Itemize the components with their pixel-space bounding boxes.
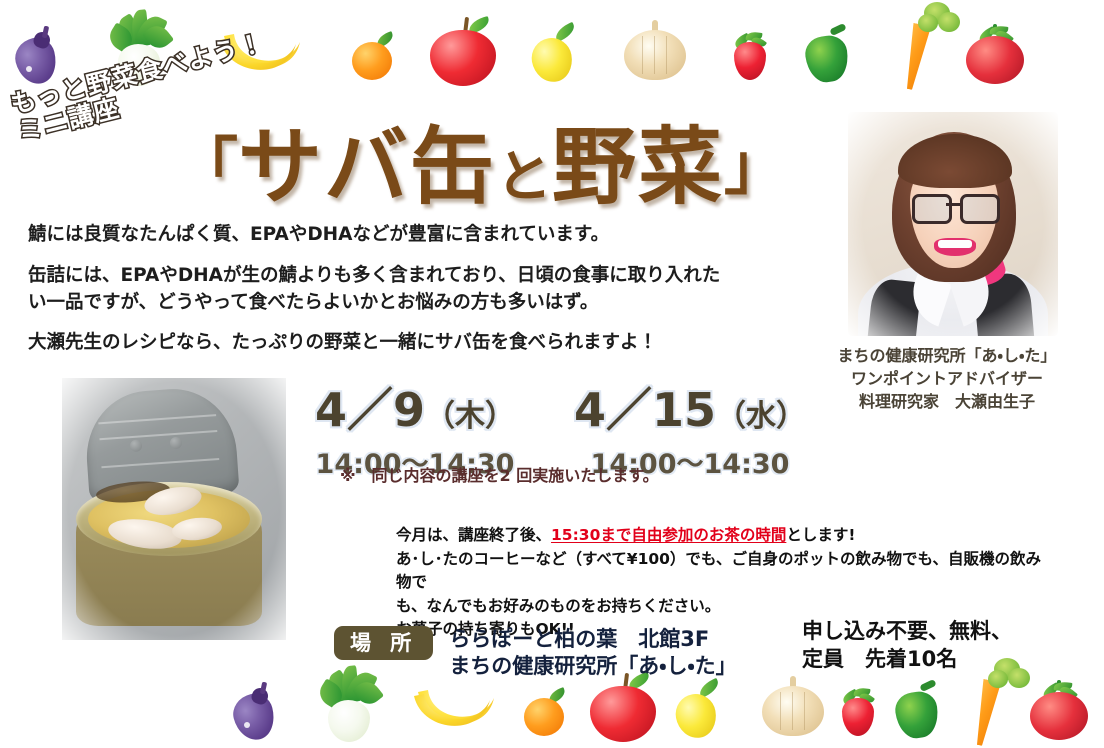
session-date-2-main: 4／15（水） <box>550 374 830 440</box>
session-date-2-number: 4／15 <box>574 383 716 437</box>
tea-line1-after: とします! <box>786 526 855 544</box>
onion-icon <box>620 16 692 84</box>
instructor-caption-line-3: 料理研究家 大瀬由生子 <box>790 390 1104 413</box>
green-pepper-icon <box>800 22 858 84</box>
tea-time-line-3: も、なんでもお好みのものをお持ちください。 <box>396 595 1056 619</box>
carrot-icon <box>888 0 966 92</box>
mackerel-can-photo <box>62 378 286 640</box>
tea-time-line-2: あ･し･たのコーヒーなど（すべて¥100）でも、ご自身のポットの飲み物でも、自販… <box>396 548 1056 595</box>
portrait-glasses <box>912 194 998 218</box>
lemon-icon <box>672 680 724 740</box>
strawberry-icon <box>836 682 882 738</box>
venue-address-line-2: まちの健康研究所「あ・し・た」 <box>449 653 736 680</box>
title-part-2: と <box>496 145 552 210</box>
tea-time-line-1: 今月は、講座終了後、15:30まで自由参加のお茶の時間とします! <box>396 524 1056 548</box>
title-close-bracket: 」 <box>724 130 786 203</box>
session-date-2-dayofweek: （水） <box>716 399 806 434</box>
banana-icon <box>412 678 498 738</box>
venue-address: ららぽーと柏の葉 北館3F まちの健康研究所「あ・し・た」 <box>449 626 736 681</box>
session-date-1-dayofweek: （木） <box>425 399 515 434</box>
apple-icon <box>428 16 500 86</box>
session-date-1-number: 4／9 <box>315 383 425 437</box>
venue-badge: 場 所 <box>334 626 433 660</box>
sessions-note: ※ 同じ内容の講座を2 回実施いたします。 <box>340 462 659 486</box>
venue-address-line-1: ららぽーと柏の葉 北館3F <box>449 626 736 653</box>
body-paragraph-3: 大瀬先生のレシピなら、たっぷりの野菜と一緒にサバ缶を食べられますよ！ <box>28 330 728 357</box>
eggplant-icon <box>228 680 280 742</box>
registration-info: 申し込み不要、無料、 定員 先着10名 <box>802 618 1012 673</box>
orange-icon <box>520 686 570 738</box>
body-copy: 鯖には良質なたんぱく質、EPAやDHAなどが豊富に含まれています。 缶詰には、E… <box>28 222 728 371</box>
title-open-bracket: 「 <box>176 130 238 203</box>
page-title: 「サバ缶と野菜」 <box>176 100 786 221</box>
session-date-1-main: 4／9（木） <box>280 374 550 440</box>
tea-line1-before: 今月は、講座終了後、 <box>396 526 551 544</box>
instructor-caption-line-2: ワンポイントアドバイザー <box>790 367 1104 390</box>
body-paragraph-2: 缶詰には、EPAやDHAが生の鯖よりも多く含まれており、日頃の食事に取り入れたい… <box>28 263 728 317</box>
poster-root: もっと野菜食べよう！ ミニ講座 「サバ缶と野菜」 鯖には良質なたんぱく質、EPA… <box>0 0 1104 748</box>
onion-icon <box>758 672 830 740</box>
portrait-teeth <box>938 240 972 248</box>
orange-icon <box>348 30 398 82</box>
body-paragraph-1: 鯖には良質なたんぱく質、EPAやDHAなどが豊富に含まれています。 <box>28 222 728 249</box>
lemon-icon <box>528 24 580 84</box>
tomato-icon <box>1026 678 1094 740</box>
tomato-icon <box>962 22 1030 84</box>
instructor-portrait-photo <box>848 112 1058 336</box>
venue-section: 場 所 ららぽーと柏の葉 北館3F まちの健康研究所「あ・し・た」 <box>334 626 737 681</box>
apple-icon <box>588 672 660 742</box>
title-part-3: 野菜 <box>552 118 724 216</box>
registration-line-2: 定員 先着10名 <box>802 646 1012 674</box>
green-pepper-icon <box>890 678 948 740</box>
tea-line1-highlight: 15:30まで自由参加のお茶の時間 <box>551 526 786 544</box>
instructor-caption-line-1: まちの健康研究所「あ・し・た」 <box>790 344 1104 367</box>
strawberry-icon <box>728 26 774 82</box>
registration-line-1: 申し込み不要、無料、 <box>802 618 1012 646</box>
eggplant-icon <box>10 24 62 86</box>
instructor-caption: まちの健康研究所「あ・し・た」 ワンポイントアドバイザー 料理研究家 大瀬由生子 <box>790 344 1104 414</box>
title-part-1: サバ缶 <box>238 118 496 216</box>
